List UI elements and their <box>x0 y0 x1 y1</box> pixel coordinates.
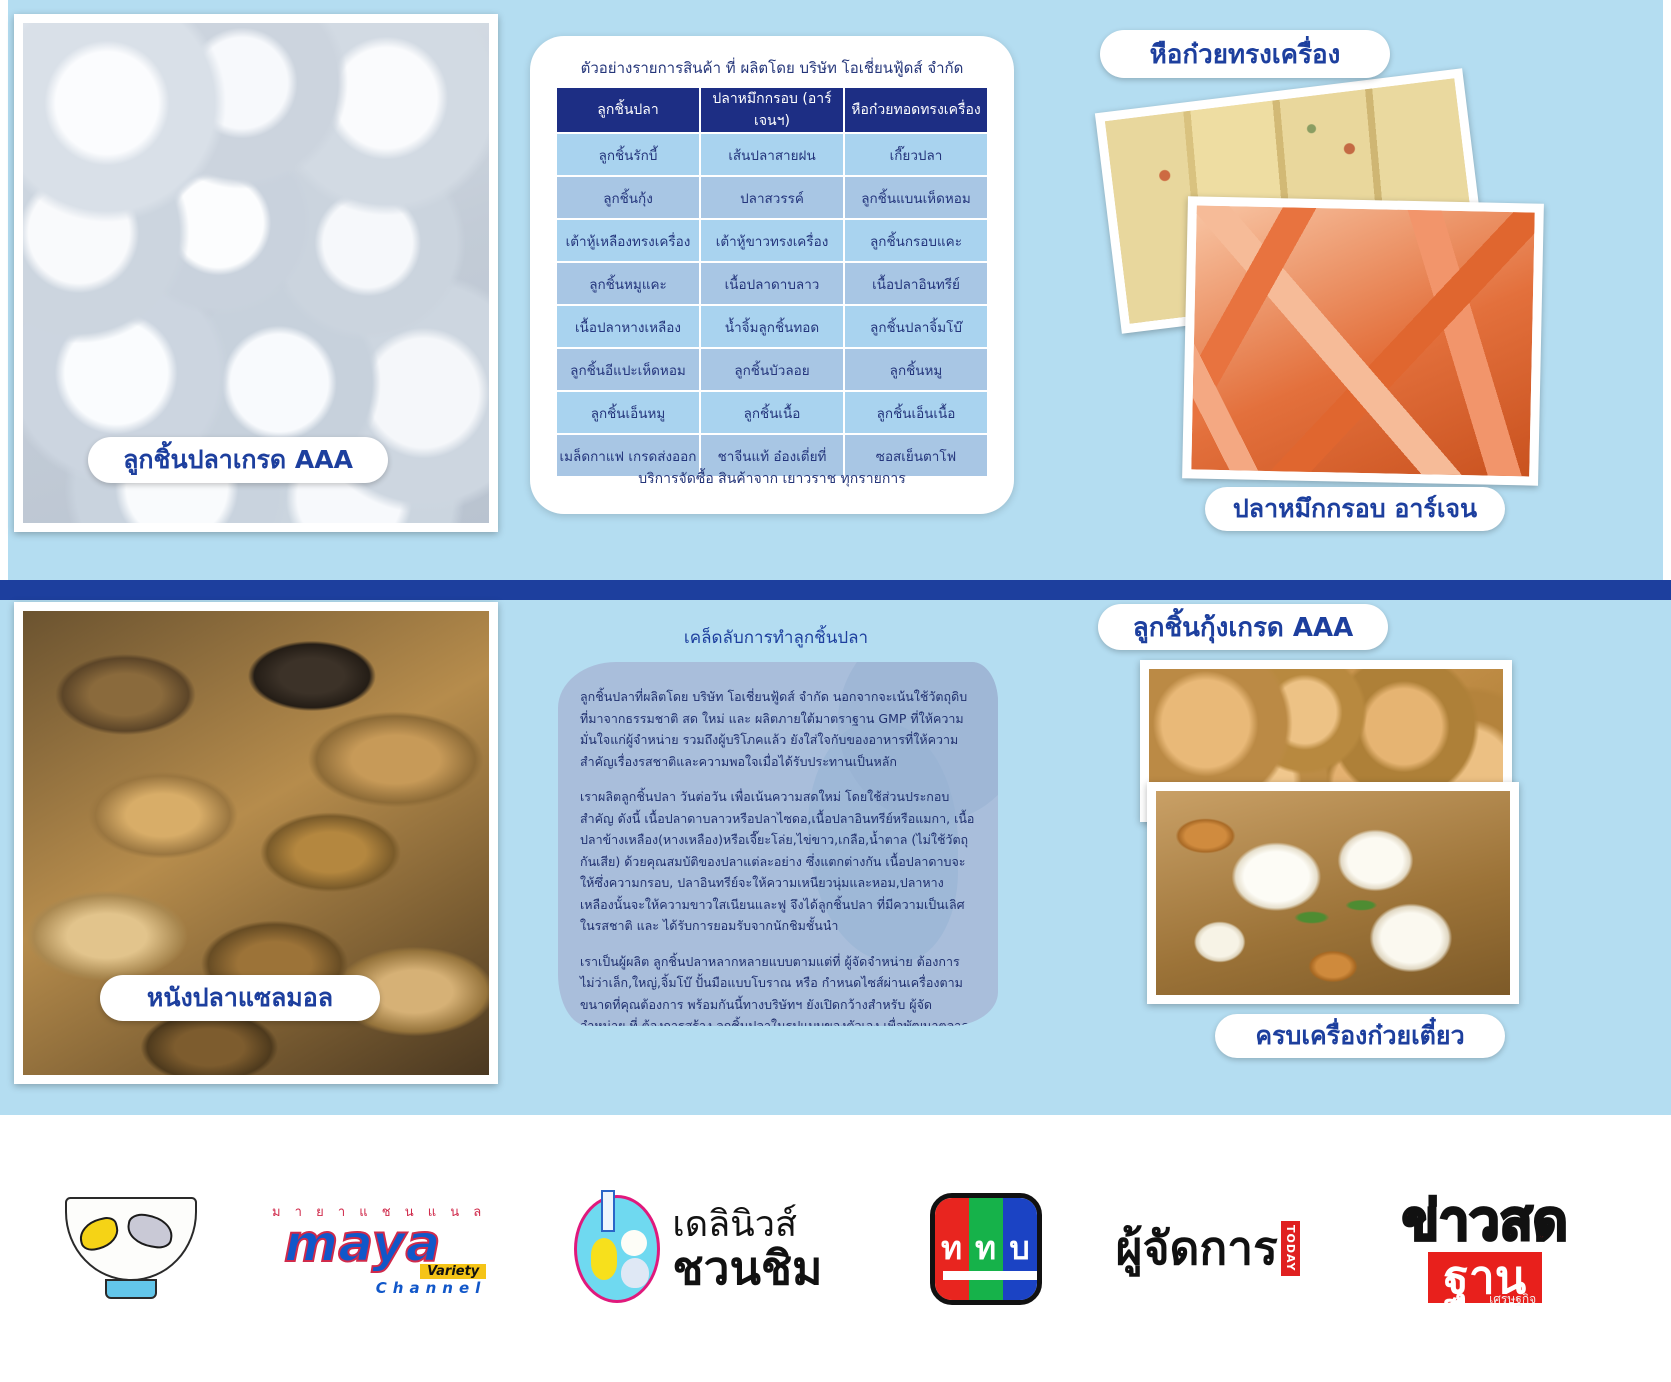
table-cell: ลูกชิ้นแบนเห็ดหอม <box>845 177 987 218</box>
maya-channel-text: Channel <box>238 1279 486 1297</box>
article-blob-background: ลูกชิ้นปลาที่ผลิตโดย บริษัท โอเชี่ยนฟู้ด… <box>558 662 998 1026</box>
article-paragraph-1: ลูกชิ้นปลาที่ผลิตโดย บริษัท โอเชี่ยนฟู้ด… <box>580 686 976 772</box>
logo-maya-channel: ม า ย า แ ช น แ น ล maya Variety Channel <box>238 1174 486 1324</box>
table-cell: เนื้อปลาหางเหลือง <box>557 306 699 347</box>
table-row: ลูกชิ้นหมูแคะเนื้อปลาดาบลาวเนื้อปลาอินทร… <box>557 263 987 304</box>
logo-phujatkan: ผู้จัดการ TODAY <box>1093 1174 1323 1324</box>
caption-squid: ปลาหมึกกรอบ อาร์เจน <box>1205 487 1505 531</box>
maya-wordmark: maya <box>284 1218 441 1270</box>
egg-white-icon <box>621 1230 647 1256</box>
table-cell: ลูกชิ้นอีแปะเห็ดหอม <box>557 349 699 390</box>
article-paragraph-3: เราเป็นผู้ผลิต ลูกชิ้นปลาหลากหลายแบบตามแ… <box>580 951 976 1027</box>
article-paragraph-2: เราผลิตลูกชิ้นปลา วันต่อวัน เพื่อเน้นควา… <box>580 786 976 937</box>
table-row: เนื้อปลาหางเหลืองน้ำจิ้มลูกชิ้นทอดลูกชิ้… <box>557 306 987 347</box>
logo-tv5: ท ท บ <box>911 1174 1061 1324</box>
dailynews-emblem-icon <box>574 1195 660 1303</box>
logo-khaosod-than: ข่าวสด ฐาน เศรษฐกิจ <box>1355 1174 1615 1324</box>
chuanchim-label: ชวนชิม <box>672 1245 822 1291</box>
khaosod-wordmark: ข่าวสด <box>1402 1194 1568 1248</box>
caption-hoi-kuai: หือก๋วยทรงเครื่อง <box>1100 30 1390 78</box>
caption-noodle-soup: ครบเครื่องก๋วยเตี๋ยว <box>1215 1014 1505 1058</box>
caption-fishball: ลูกชิ้นปลาเกรด AAA <box>88 437 388 483</box>
table-header-cell-1: ปลาหมึกกรอบ (อาร์เจนฯ) <box>701 88 843 132</box>
maya-variety-tag: Variety <box>420 1264 486 1279</box>
photo-noodle-soup <box>1147 782 1519 1004</box>
phujatkan-wordmark: ผู้จัดการ <box>1116 1212 1278 1285</box>
table-cell: ลูกชิ้นเอ็นเนื้อ <box>845 392 987 433</box>
logo-dailynews-chuanchim: เดลินิวส์ ชวนชิม <box>518 1174 878 1324</box>
than-wordmark: ฐาน เศรษฐกิจ <box>1428 1252 1543 1303</box>
right-white-rail <box>1663 0 1671 580</box>
table-cell: เต้าหู้เหลืองทรงเครื่อง <box>557 220 699 261</box>
table-row: ลูกชิ้นอีแปะเห็ดหอมลูกชิ้นบัวลอยลูกชิ้นห… <box>557 349 987 390</box>
product-table-card: ตัวอย่างรายการสินค้า ที่ ผลิตโดย บริษัท … <box>530 36 1014 514</box>
table-cell: เกี๊ยวปลา <box>845 134 987 175</box>
table-cell: ลูกชิ้นหมูแคะ <box>557 263 699 304</box>
navy-divider-bar <box>0 580 1671 600</box>
noodle-soup-image <box>1156 791 1510 995</box>
table-cell: ลูกชิ้นเนื้อ <box>701 392 843 433</box>
egg-icon <box>591 1238 617 1280</box>
article-title: เคล็ดลับการทำลูกชิ้นปลา <box>528 624 1024 651</box>
table-row: เต้าหู้เหลืองทรงเครื่องเต้าหู้ขาวทรงเครื… <box>557 220 987 261</box>
product-table: ลูกชิ้นปลาปลาหมึกกรอบ (อาร์เจนฯ)หือก๋วยท… <box>555 86 989 478</box>
caption-shrimp-ball: ลูกชิ้นกุ้งเกรด AAA <box>1098 604 1388 650</box>
brochure-page: ลูกชิ้นปลาเกรด AAA หนังปลาแซลมอล หือก๋วย… <box>0 0 1671 1382</box>
table-header-cell-2: หือก๋วยทอดทรงเครื่อง <box>845 88 987 132</box>
table-row: ลูกชิ้นกุ้งปลาสวรรค์ลูกชิ้นแบนเห็ดหอม <box>557 177 987 218</box>
table-cell: เนื้อปลาดาบลาว <box>701 263 843 304</box>
product-table-title: ตัวอย่างรายการสินค้า ที่ ผลิตโดย บริษัท … <box>530 56 1014 80</box>
table-cell: ลูกชิ้นกรอบแคะ <box>845 220 987 261</box>
table-cell: ลูกชิ้นปลาจิ้มโบ๊ <box>845 306 987 347</box>
bowl-foot <box>105 1279 157 1299</box>
table-cell: น้ำจิ้มลูกชิ้นทอด <box>701 306 843 347</box>
table-header-row: ลูกชิ้นปลาปลาหมึกกรอบ (อาร์เจนฯ)หือก๋วยท… <box>557 88 987 132</box>
caption-salmon-skin: หนังปลาแซลมอล <box>100 975 380 1021</box>
table-row: ลูกชิ้นรักบี้เส้นปลาสายฝนเกี๊ยวปลา <box>557 134 987 175</box>
tv5-emblem-icon: ท ท บ <box>930 1193 1042 1305</box>
table-cell: ปลาสวรรค์ <box>701 177 843 218</box>
partner-logo-bar: ม า ย า แ ช น แ น ล maya Variety Channel… <box>0 1115 1671 1382</box>
tv5-letter-3: บ <box>1003 1198 1037 1300</box>
tv5-letter-1: ท <box>935 1198 969 1300</box>
grapes-icon <box>621 1258 649 1288</box>
table-cell: ลูกชิ้นบัวลอย <box>701 349 843 390</box>
bowl-icon <box>65 1197 197 1301</box>
table-cell: เส้นปลาสายฝน <box>701 134 843 175</box>
left-white-rail <box>0 0 8 580</box>
phujatkan-tag: TODAY <box>1281 1221 1300 1275</box>
tv5-letter-2: ท <box>969 1198 1003 1300</box>
dailynews-label: เดลินิวส์ <box>672 1207 822 1243</box>
logo-fish-bowl <box>56 1174 206 1324</box>
squid-image <box>1191 205 1534 476</box>
article-body: ลูกชิ้นปลาที่ผลิตโดย บริษัท โอเชี่ยนฟู้ด… <box>580 686 976 1026</box>
table-cell: ลูกชิ้นรักบี้ <box>557 134 699 175</box>
product-table-footnote: บริการจัดซื้อ สินค้าจาก เยาวราช ทุกรายกา… <box>530 468 1014 490</box>
table-cell: เนื้อปลาอินทรีย์ <box>845 263 987 304</box>
table-header-cell-0: ลูกชิ้นปลา <box>557 88 699 132</box>
than-sub-label: เศรษฐกิจ <box>1489 1293 1536 1306</box>
photo-squid <box>1182 196 1544 485</box>
table-cell: ลูกชิ้นหมู <box>845 349 987 390</box>
table-cell: เต้าหู้ขาวทรงเครื่อง <box>701 220 843 261</box>
table-cell: ลูกชิ้นกุ้ง <box>557 177 699 218</box>
glass-icon <box>601 1190 615 1232</box>
article-card: เคล็ดลับการทำลูกชิ้นปลา ลูกชิ้นปลาที่ผลิ… <box>528 616 1024 1036</box>
table-cell: ลูกชิ้นเอ็นหมู <box>557 392 699 433</box>
table-row: ลูกชิ้นเอ็นหมูลูกชิ้นเนื้อลูกชิ้นเอ็นเนื… <box>557 392 987 433</box>
